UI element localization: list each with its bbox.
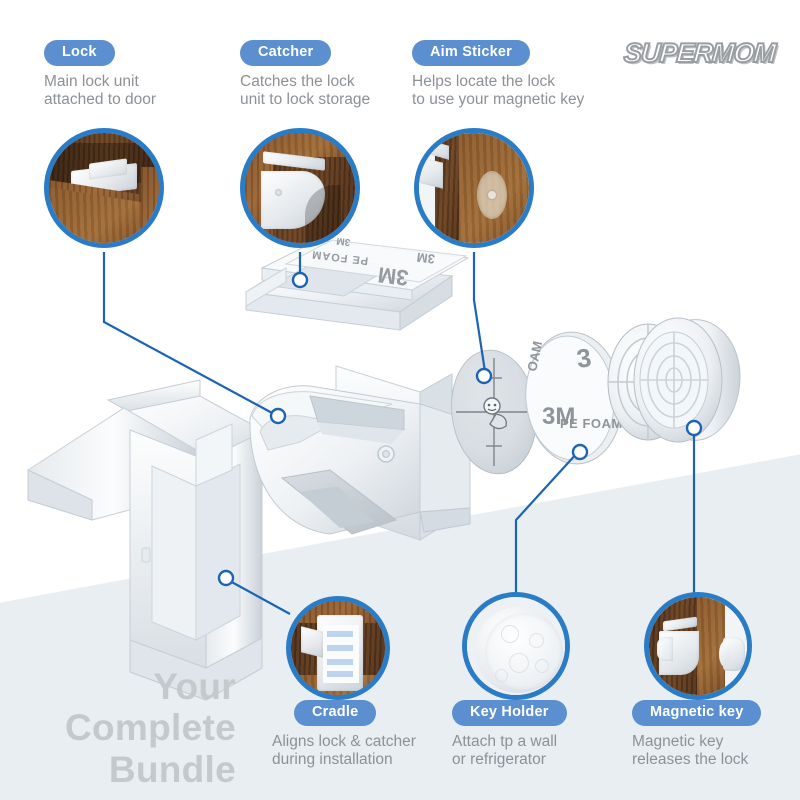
callout-magnetic-key-description: Magnetic key releases the lock xyxy=(632,733,792,771)
callout-lock-description: Main lock unit attached to door xyxy=(44,73,234,111)
callout-lock: Lock Main lock unit attached to door xyxy=(44,40,234,110)
callout-aim-sticker: Aim Sticker Helps locate the lock to use… xyxy=(412,40,627,110)
brand-logo: SUPERMOM xyxy=(623,38,776,69)
photo-circle-aim-sticker xyxy=(414,128,534,248)
callout-cradle: Cradle Aligns lock & catcher during inst… xyxy=(272,700,472,770)
callout-aim-sticker-pill: Aim Sticker xyxy=(412,40,530,66)
photo-circle-cradle xyxy=(286,596,390,700)
callout-lock-pill: Lock xyxy=(44,40,115,66)
callout-cradle-description: Aligns lock & catcher during installatio… xyxy=(272,733,472,771)
callout-cradle-pill: Cradle xyxy=(294,700,376,726)
callout-magnetic-key: Magnetic key Magnetic key releases the l… xyxy=(632,700,792,770)
callout-catcher-pill: Catcher xyxy=(240,40,331,66)
photo-circle-magnetic-key xyxy=(644,592,752,700)
infographic-canvas: 3M PE FOAM 3M 3M xyxy=(0,0,800,800)
callout-catcher: Catcher Catches the lock unit to lock st… xyxy=(240,40,430,110)
bundle-headline: Your Complete Bundle xyxy=(28,666,236,790)
photo-circle-catcher xyxy=(240,128,360,248)
callout-key-holder: Key Holder Attach tp a wall or refrigera… xyxy=(452,700,612,770)
photo-circle-key-holder xyxy=(462,592,570,700)
photo-circle-lock xyxy=(44,128,164,248)
callout-key-holder-description: Attach tp a wall or refrigerator xyxy=(452,733,612,771)
callout-aim-sticker-description: Helps locate the lock to use your magnet… xyxy=(412,73,627,111)
callout-magnetic-key-pill: Magnetic key xyxy=(632,700,761,726)
callout-key-holder-pill: Key Holder xyxy=(452,700,567,726)
callout-catcher-description: Catches the lock unit to lock storage xyxy=(240,73,430,111)
